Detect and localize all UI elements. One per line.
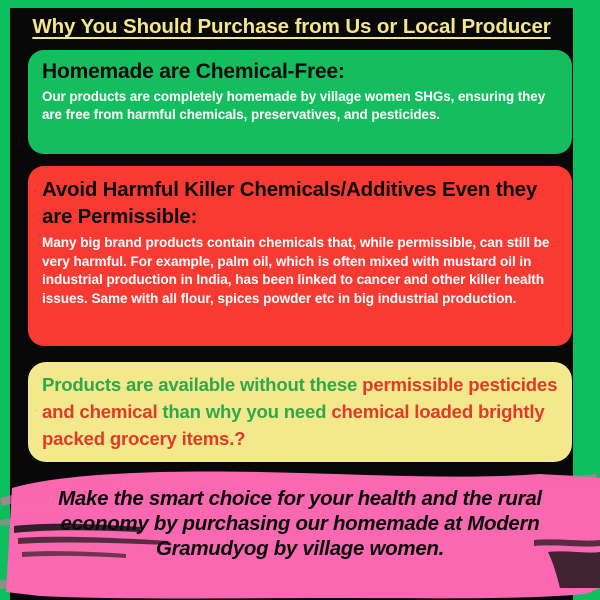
poster-canvas: Why You Should Purchase from Us or Local…	[0, 0, 600, 600]
card-heading-avoid-additives: Avoid Harmful Killer Chemicals/Additives…	[42, 176, 558, 231]
card-chemical-free: Homemade are Chemical-Free: Our products…	[28, 50, 572, 154]
question-segment-1: Products are available without these	[42, 374, 362, 395]
card-body-avoid-additives: Many big brand products contain chemical…	[42, 234, 558, 308]
card-heading-chemical-free: Homemade are Chemical-Free:	[42, 60, 558, 85]
footer-call-to-action: Make the smart choice for your health an…	[0, 486, 600, 562]
card-body-chemical-free: Our products are completely homemade by …	[42, 88, 558, 124]
card-body-why-need-chemical: Products are available without these per…	[42, 372, 558, 452]
card-avoid-additives: Avoid Harmful Killer Chemicals/Additives…	[28, 166, 572, 346]
question-segment-3: than why you need	[162, 401, 331, 422]
poster-title-bar: Why You Should Purchase from Us or Local…	[10, 10, 573, 44]
card-why-need-chemical: Products are available without these per…	[28, 362, 572, 462]
page-title: Why You Should Purchase from Us or Local…	[32, 15, 550, 39]
